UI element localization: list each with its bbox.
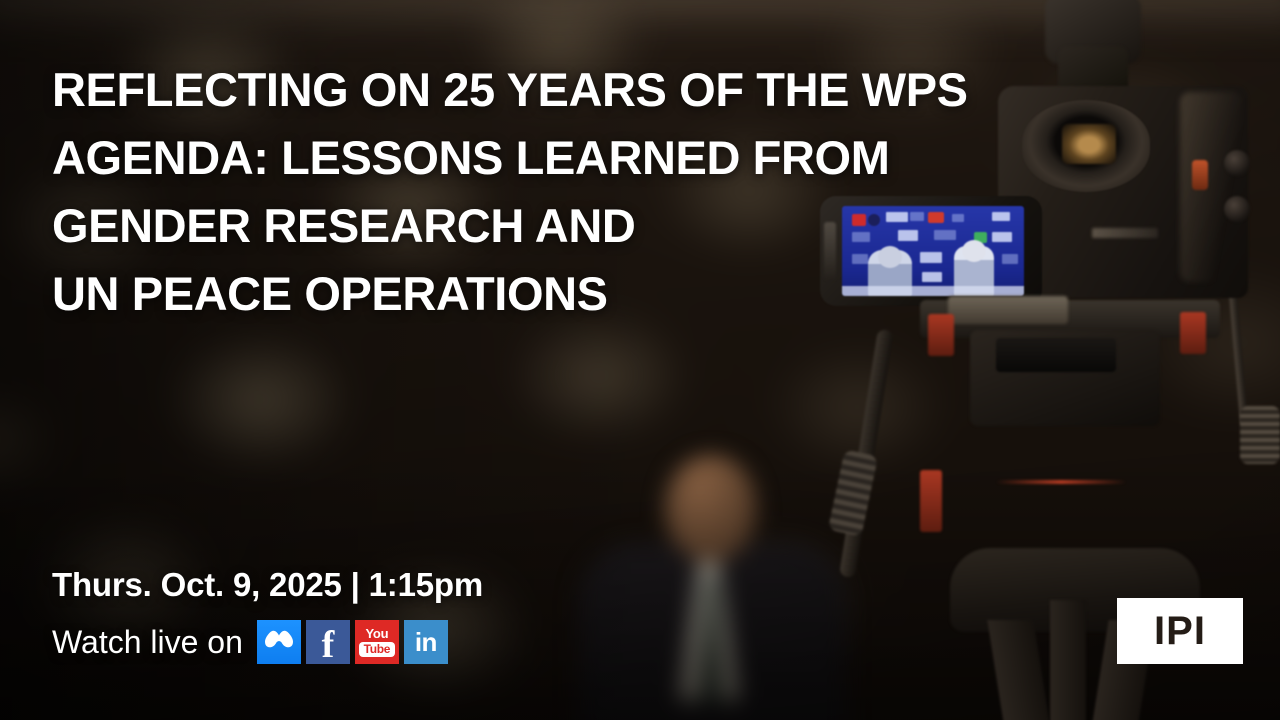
camera-dial-upper: [1224, 150, 1250, 176]
watch-live-row: Watch live on f You Tube in: [52, 620, 448, 664]
tripod-tension-knob: [1240, 406, 1280, 464]
youtube-tube-text: Tube: [359, 642, 396, 658]
tripod-red-stripe: [996, 480, 1126, 484]
tripod-pan-handle-grip: [828, 449, 878, 536]
tripod-leg-left: [987, 620, 1050, 720]
event-promo-graphic: REFLECTING ON 25 YEARS OF THE WPS AGENDA…: [0, 0, 1280, 720]
canon-brand-mark: [1092, 228, 1158, 238]
facebook-glyph: f: [322, 626, 335, 664]
camera-body-highlight: [1180, 92, 1242, 282]
social-links: f You Tube in: [257, 620, 448, 664]
record-button: [1192, 160, 1208, 190]
tripod-red-accent-right: [1180, 312, 1206, 354]
linkedin-glyph: in: [415, 629, 437, 655]
linkedin-icon[interactable]: in: [404, 620, 448, 664]
watch-live-label: Watch live on: [52, 624, 243, 661]
bluesky-icon[interactable]: [257, 620, 301, 664]
title-line-2: AGENDA: LESSONS LEARNED FROM: [52, 124, 1072, 192]
title-line-3: GENDER RESEARCH AND: [52, 192, 1072, 260]
ipi-logo-text: IPI: [1154, 611, 1206, 651]
tripod-leg-red-accent: [920, 470, 942, 532]
title-line-1: REFLECTING ON 25 YEARS OF THE WPS: [52, 56, 1072, 124]
event-datetime: Thurs. Oct. 9, 2025 | 1:15pm: [52, 566, 483, 604]
facebook-icon[interactable]: f: [306, 620, 350, 664]
youtube-you-text: You: [366, 627, 389, 640]
event-title: REFLECTING ON 25 YEARS OF THE WPS AGENDA…: [52, 56, 1072, 328]
ipi-logo: IPI: [1117, 598, 1243, 664]
tripod-head-slot: [996, 338, 1116, 372]
title-line-4: UN PEACE OPERATIONS: [52, 260, 1072, 328]
youtube-wordmark: You Tube: [359, 627, 396, 658]
tripod-leg-center: [1050, 600, 1086, 720]
camera-dial-lower: [1224, 196, 1250, 222]
youtube-icon[interactable]: You Tube: [355, 620, 399, 664]
